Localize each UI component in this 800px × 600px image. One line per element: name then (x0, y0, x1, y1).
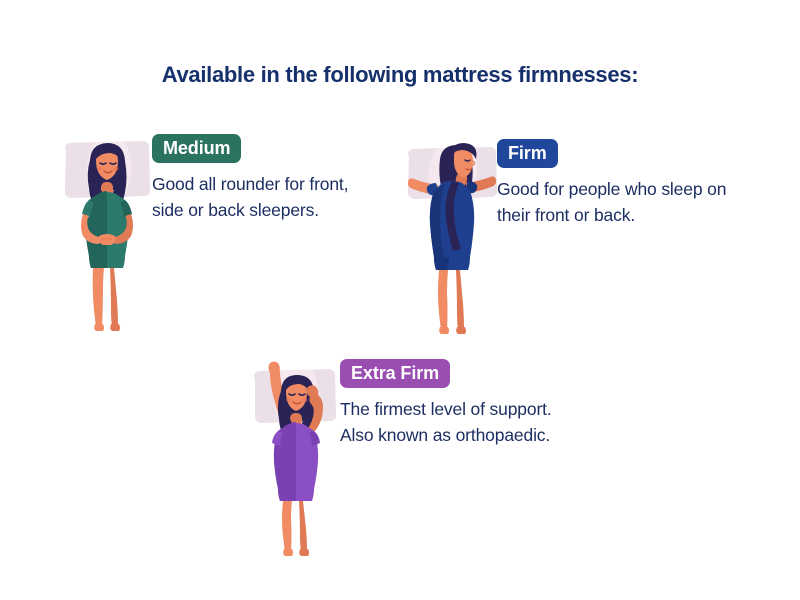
badge-medium[interactable]: Medium (152, 134, 241, 163)
extra-firm-description: The firmest level of support. Also known… (340, 397, 572, 449)
page-title: Available in the following mattress firm… (0, 62, 800, 88)
badge-firm[interactable]: Firm (497, 139, 558, 168)
medium-text-column: Medium Good all rounder for front, side … (152, 134, 384, 224)
illustration-woman-lying-arms-folded (55, 128, 159, 334)
infographic-canvas: Available in the following mattress firm… (0, 0, 800, 600)
badge-extra-firm[interactable]: Extra Firm (340, 359, 450, 388)
illustration-woman-lying-arms-out (400, 133, 504, 339)
firm-description: Good for people who sleep on their front… (497, 177, 735, 229)
extra-firm-text-column: Extra Firm The firmest level of support.… (340, 359, 572, 449)
medium-description: Good all rounder for front, side or back… (152, 172, 384, 224)
firm-text-column: Firm Good for people who sleep on their … (497, 139, 729, 229)
illustration-woman-lying-arm-raised (243, 353, 347, 559)
